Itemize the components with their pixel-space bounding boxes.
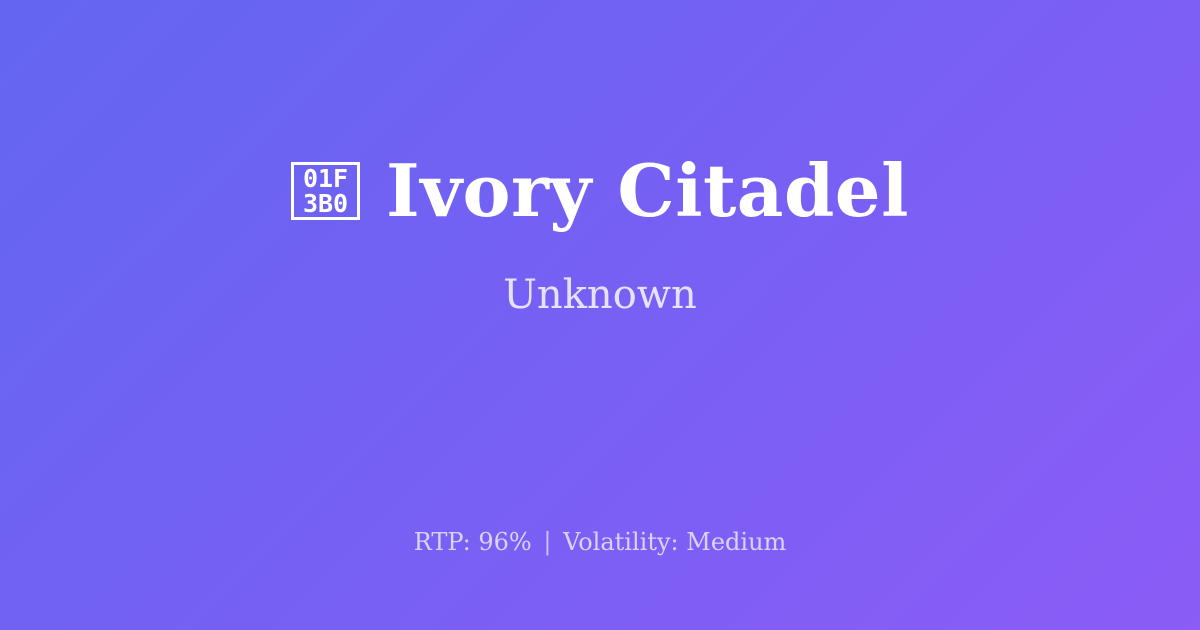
game-meta-line: RTP: 96% | Volatility: Medium: [0, 528, 1200, 557]
slot-machine-icon: 01F 3B0: [291, 162, 360, 220]
title-row: 01F 3B0 Ivory Citadel: [60, 155, 1140, 227]
game-title: Ivory Citadel: [386, 155, 909, 227]
volatility-value: Medium: [686, 528, 786, 556]
meta-separator: |: [539, 528, 555, 556]
tofu-codepoint-top: 01F: [303, 166, 348, 191]
game-provider: Unknown: [503, 273, 697, 317]
tofu-codepoint-bottom: 3B0: [303, 191, 348, 216]
game-share-card: 01F 3B0 Ivory Citadel Unknown RTP: 96% |…: [0, 0, 1200, 630]
hero-block: 01F 3B0 Ivory Citadel Unknown: [0, 0, 1200, 472]
rtp-label: RTP:: [414, 528, 471, 556]
rtp-value: 96%: [478, 528, 531, 556]
volatility-label: Volatility:: [563, 528, 679, 556]
